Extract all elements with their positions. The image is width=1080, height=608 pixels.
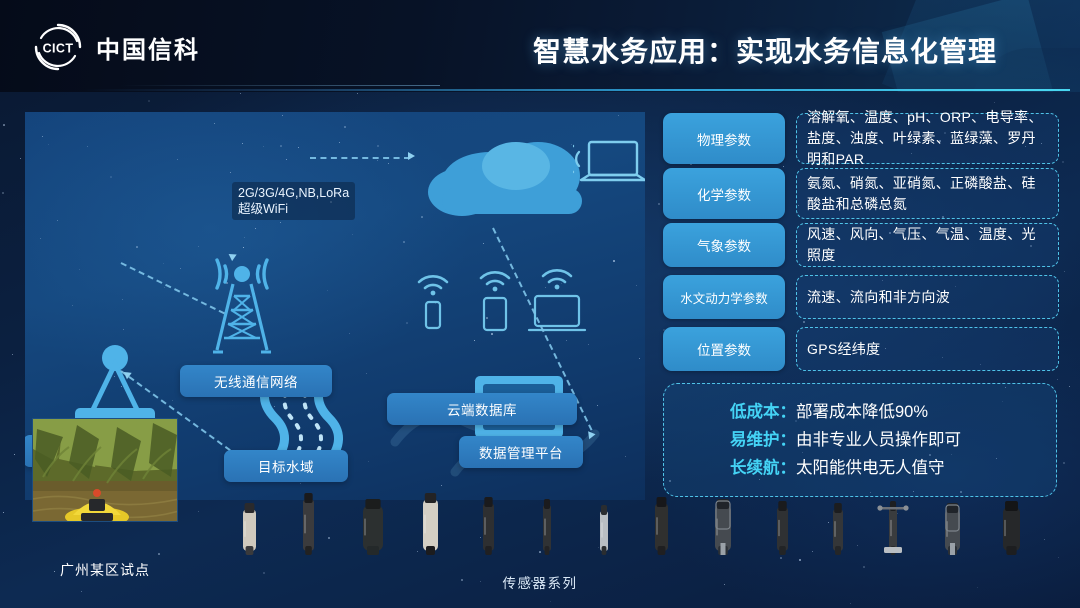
sensor-probe (640, 493, 683, 568)
star-dot (994, 102, 995, 103)
parameter-pill-chemical[interactable]: 化学参数 (663, 168, 785, 219)
sensor-probe (228, 499, 271, 568)
cell-tower-icon (177, 232, 307, 372)
sensor-probe (348, 495, 398, 568)
benefits-box: 低成本：部署成本降低90% 易维护：由非专业人员操作即可 长续航：太阳能供电无人… (663, 383, 1057, 497)
benefit-long-endurance-value: 太阳能供电无人值守 (796, 459, 945, 477)
benefit-easy-maintenance: 易维护：由非专业人员操作即可 (730, 428, 1056, 453)
parameter-pill-hydrodynamic[interactable]: 水文动力学参数 (663, 275, 785, 319)
parameter-value-physical: 溶解氧、温度、pH、ORP、电导率、盐度、浊度、叶绿素、蓝绿藻、罗丹明和PAR (796, 113, 1059, 164)
node-label-cloud-database[interactable]: 云端数据库 (387, 393, 577, 425)
slide-background: CICT 中国信科 智慧水务应用：实现水务信息化管理 (0, 0, 1080, 608)
star-dot (240, 93, 241, 94)
sensor-probe (930, 499, 975, 568)
link-tower-to-cloud (310, 157, 410, 159)
brand-name: 中国信科 (96, 30, 200, 65)
star-dot (1062, 161, 1064, 163)
brand-logo: CICT 中国信科 (33, 22, 200, 72)
star-dot (1063, 462, 1065, 464)
benefit-long-endurance-key: 长续航： (730, 459, 796, 477)
parameter-row-meteorological: 气象参数 风速、风向、气压、气温、温度、光照度 (663, 223, 1059, 267)
network-tag-line-1: 2G/3G/4G,NB,LoRa (238, 186, 349, 200)
sensor-probe (988, 497, 1035, 568)
sensor-product-strip (0, 500, 1080, 578)
sensor-probe (468, 493, 509, 568)
sensor-probe (818, 499, 858, 568)
sensor-probe (288, 489, 329, 568)
star-dot (550, 601, 551, 602)
sensor-probe (762, 497, 803, 568)
sensors-caption: 传感器系列 (0, 572, 1080, 592)
header-accent-line-secondary (120, 85, 440, 86)
benefit-easy-maintenance-key: 易维护： (730, 431, 796, 449)
parameter-value-hydrodynamic: 流速、流向和非方向波 (796, 275, 1059, 319)
page-title: 智慧水务应用：实现水务信息化管理 (533, 30, 997, 70)
cict-logo-icon: CICT (33, 22, 83, 72)
node-label-wireless-network[interactable]: 无线通信网络 (180, 365, 332, 397)
star-dot (3, 124, 5, 126)
star-dot (658, 203, 660, 205)
star-dot (148, 100, 150, 102)
star-dot (850, 603, 851, 604)
arrow-tower-to-cloud (408, 152, 415, 160)
sensor-probe (700, 495, 746, 568)
star-dot (357, 93, 358, 94)
laptop-icon (573, 134, 645, 204)
benefit-long-endurance: 长续航：太阳能供电无人值守 (730, 456, 1056, 481)
svg-text:CICT: CICT (43, 42, 74, 56)
benefit-low-cost: 低成本：部署成本降低90% (730, 400, 1056, 425)
star-dot (803, 321, 805, 323)
star-dot (933, 268, 934, 269)
star-dot (12, 354, 13, 355)
parameter-pill-location[interactable]: 位置参数 (663, 327, 785, 371)
slide-header: CICT 中国信科 智慧水务应用：实现水务信息化管理 (0, 0, 1080, 92)
sensor-probe (528, 495, 566, 568)
parameter-row-location: 位置参数 GPS经纬度 (663, 327, 1059, 371)
benefit-low-cost-value: 部署成本降低90% (796, 403, 928, 421)
node-label-target-water[interactable]: 目标水域 (224, 450, 348, 482)
parameter-row-chemical: 化学参数 氨氮、硝氮、亚硝氮、正磷酸盐、硅酸盐和总磷总氮 (663, 168, 1059, 219)
sensor-probe (585, 501, 623, 568)
benefit-low-cost-key: 低成本： (730, 403, 796, 421)
star-dot (1069, 386, 1070, 387)
parameter-row-hydrodynamic: 水文动力学参数 流速、流向和非方向波 (663, 275, 1059, 319)
parameter-value-location: GPS经纬度 (796, 327, 1059, 371)
connected-devices-icons (413, 260, 623, 350)
star-dot (2, 192, 4, 194)
star-dot (1064, 271, 1065, 272)
parameter-value-meteorological: 风速、风向、气压、气温、温度、光照度 (796, 223, 1059, 267)
network-technology-tag: 2G/3G/4G,NB,LoRa 超级WiFi (232, 182, 355, 220)
network-tag-line-2: 超级WiFi (238, 202, 288, 216)
star-dot (14, 454, 15, 455)
parameter-pill-meteorological[interactable]: 气象参数 (663, 223, 785, 267)
parameter-row-physical: 物理参数 溶解氧、温度、pH、ORP、电导率、盐度、浊度、叶绿素、蓝绿藻、罗丹明… (663, 113, 1059, 164)
star-dot (20, 158, 21, 159)
header-accent-line (84, 89, 1070, 91)
sensor-probe (874, 497, 912, 568)
benefit-easy-maintenance-value: 由非专业人员操作即可 (796, 431, 961, 449)
star-dot (1037, 269, 1038, 270)
sensor-probe (408, 489, 453, 568)
node-label-data-platform[interactable]: 数据管理平台 (459, 436, 583, 468)
parameter-value-chemical: 氨氮、硝氮、亚硝氮、正磷酸盐、硅酸盐和总磷总氮 (796, 168, 1059, 219)
parameter-pill-physical[interactable]: 物理参数 (663, 113, 785, 164)
